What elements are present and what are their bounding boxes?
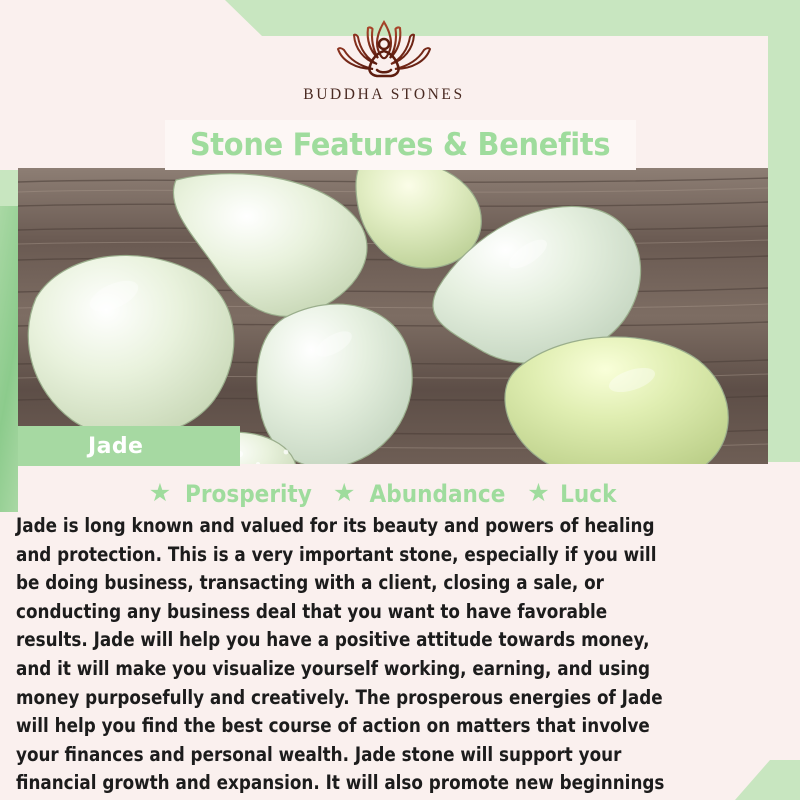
benefit-label: Abundance — [370, 480, 506, 508]
lotus-meditation-icon — [325, 14, 443, 82]
stone-photo — [18, 168, 768, 464]
page-title: Stone Features & Benefits — [190, 130, 610, 161]
benefit-label: Prosperity — [185, 480, 312, 508]
brand-header: BUDDHA STONES — [0, 0, 768, 118]
stone-name-label: Jade — [18, 426, 240, 466]
star-icon: ★ — [527, 481, 549, 506]
benefit-item-luck: ★ Luck — [527, 480, 619, 508]
stone-description: Jade is long known and valued for its be… — [16, 512, 674, 800]
star-icon: ★ — [333, 481, 355, 506]
benefits-list: ★ Prosperity ★ Abundance ★ Luck — [0, 479, 768, 509]
title-banner: Stone Features & Benefits — [165, 120, 636, 170]
brand-name: BUDDHA STONES — [303, 86, 464, 104]
left-green-accent-bar — [0, 206, 18, 512]
infographic-page: BUDDHA STONES Stone Features & Benefits — [0, 0, 800, 800]
star-icon: ★ — [149, 481, 171, 506]
benefit-item-abundance: ★ Abundance — [333, 480, 513, 508]
benefit-label: Luck — [560, 480, 616, 508]
benefit-item-prosperity: ★ Prosperity — [149, 480, 319, 508]
stone-name-text: Jade — [88, 434, 143, 459]
